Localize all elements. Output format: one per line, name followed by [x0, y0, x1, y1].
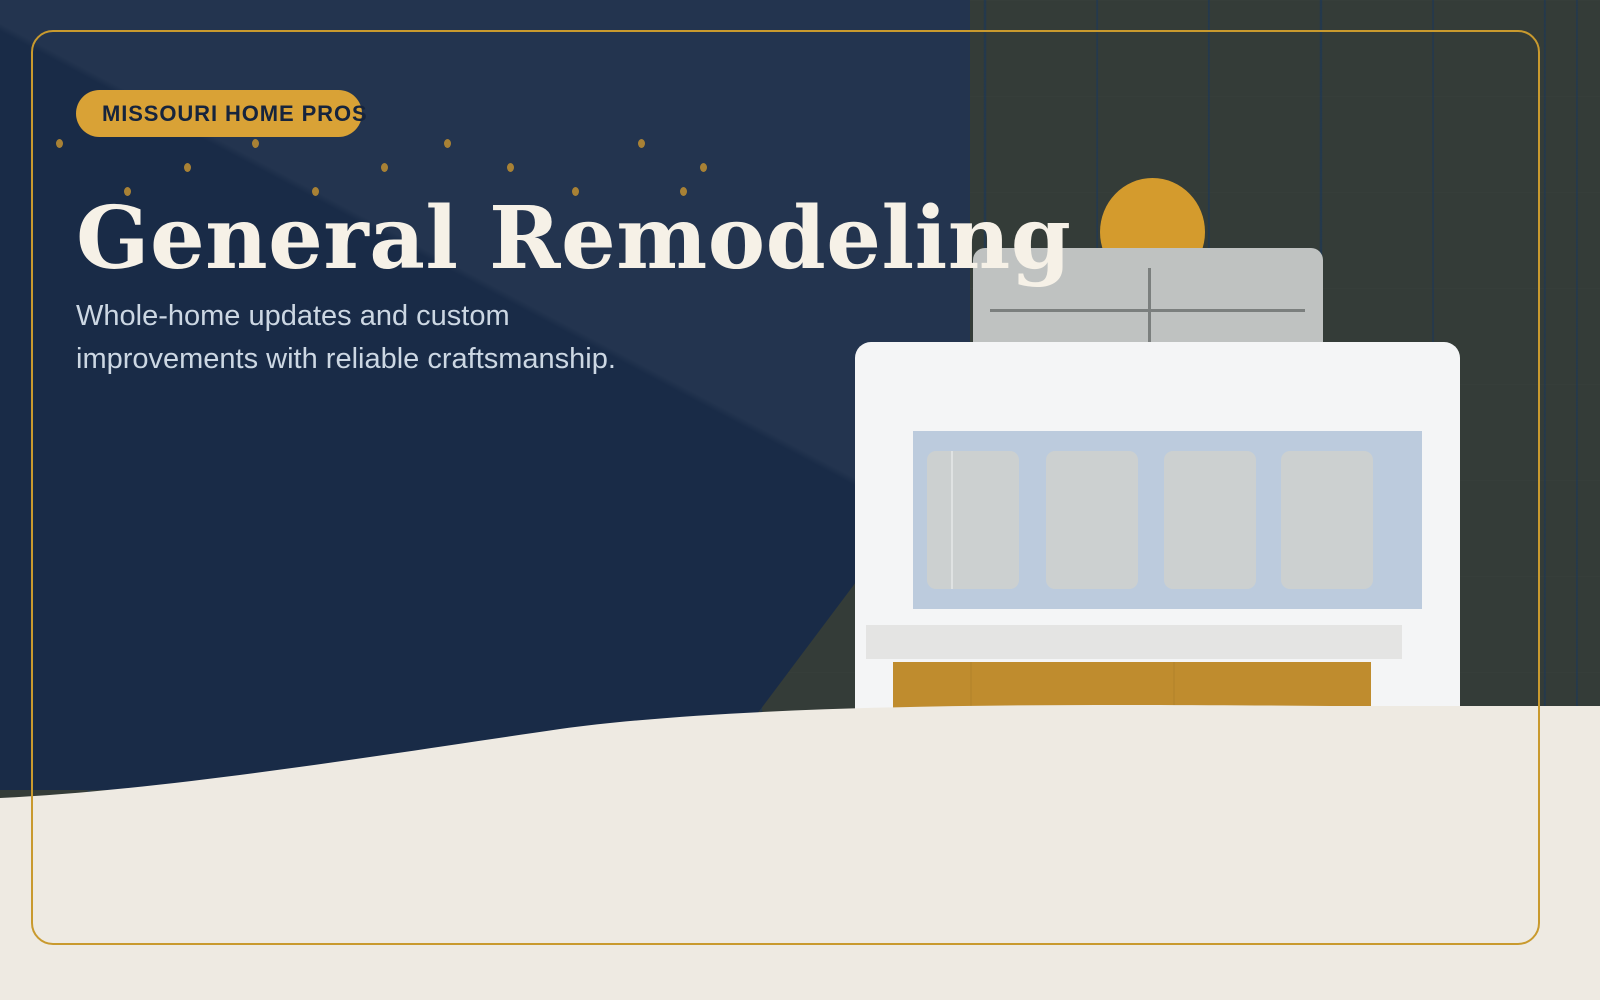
brand-badge[interactable]: MISSOURI HOME PROS — [76, 90, 362, 137]
hero-banner-canvas: MISSOURI HOME PROS General Remodeling Wh… — [0, 0, 1600, 1000]
page-title: General Remodeling — [76, 195, 1071, 283]
cream-ground-shape — [0, 680, 1600, 1000]
hero-text-block: MISSOURI HOME PROS General Remodeling Wh… — [76, 90, 1076, 137]
brand-badge-label: MISSOURI HOME PROS — [102, 90, 368, 137]
ground-curve — [0, 680, 1600, 1000]
hero-subheadline: Whole-home updates and custom improvemen… — [76, 295, 656, 381]
